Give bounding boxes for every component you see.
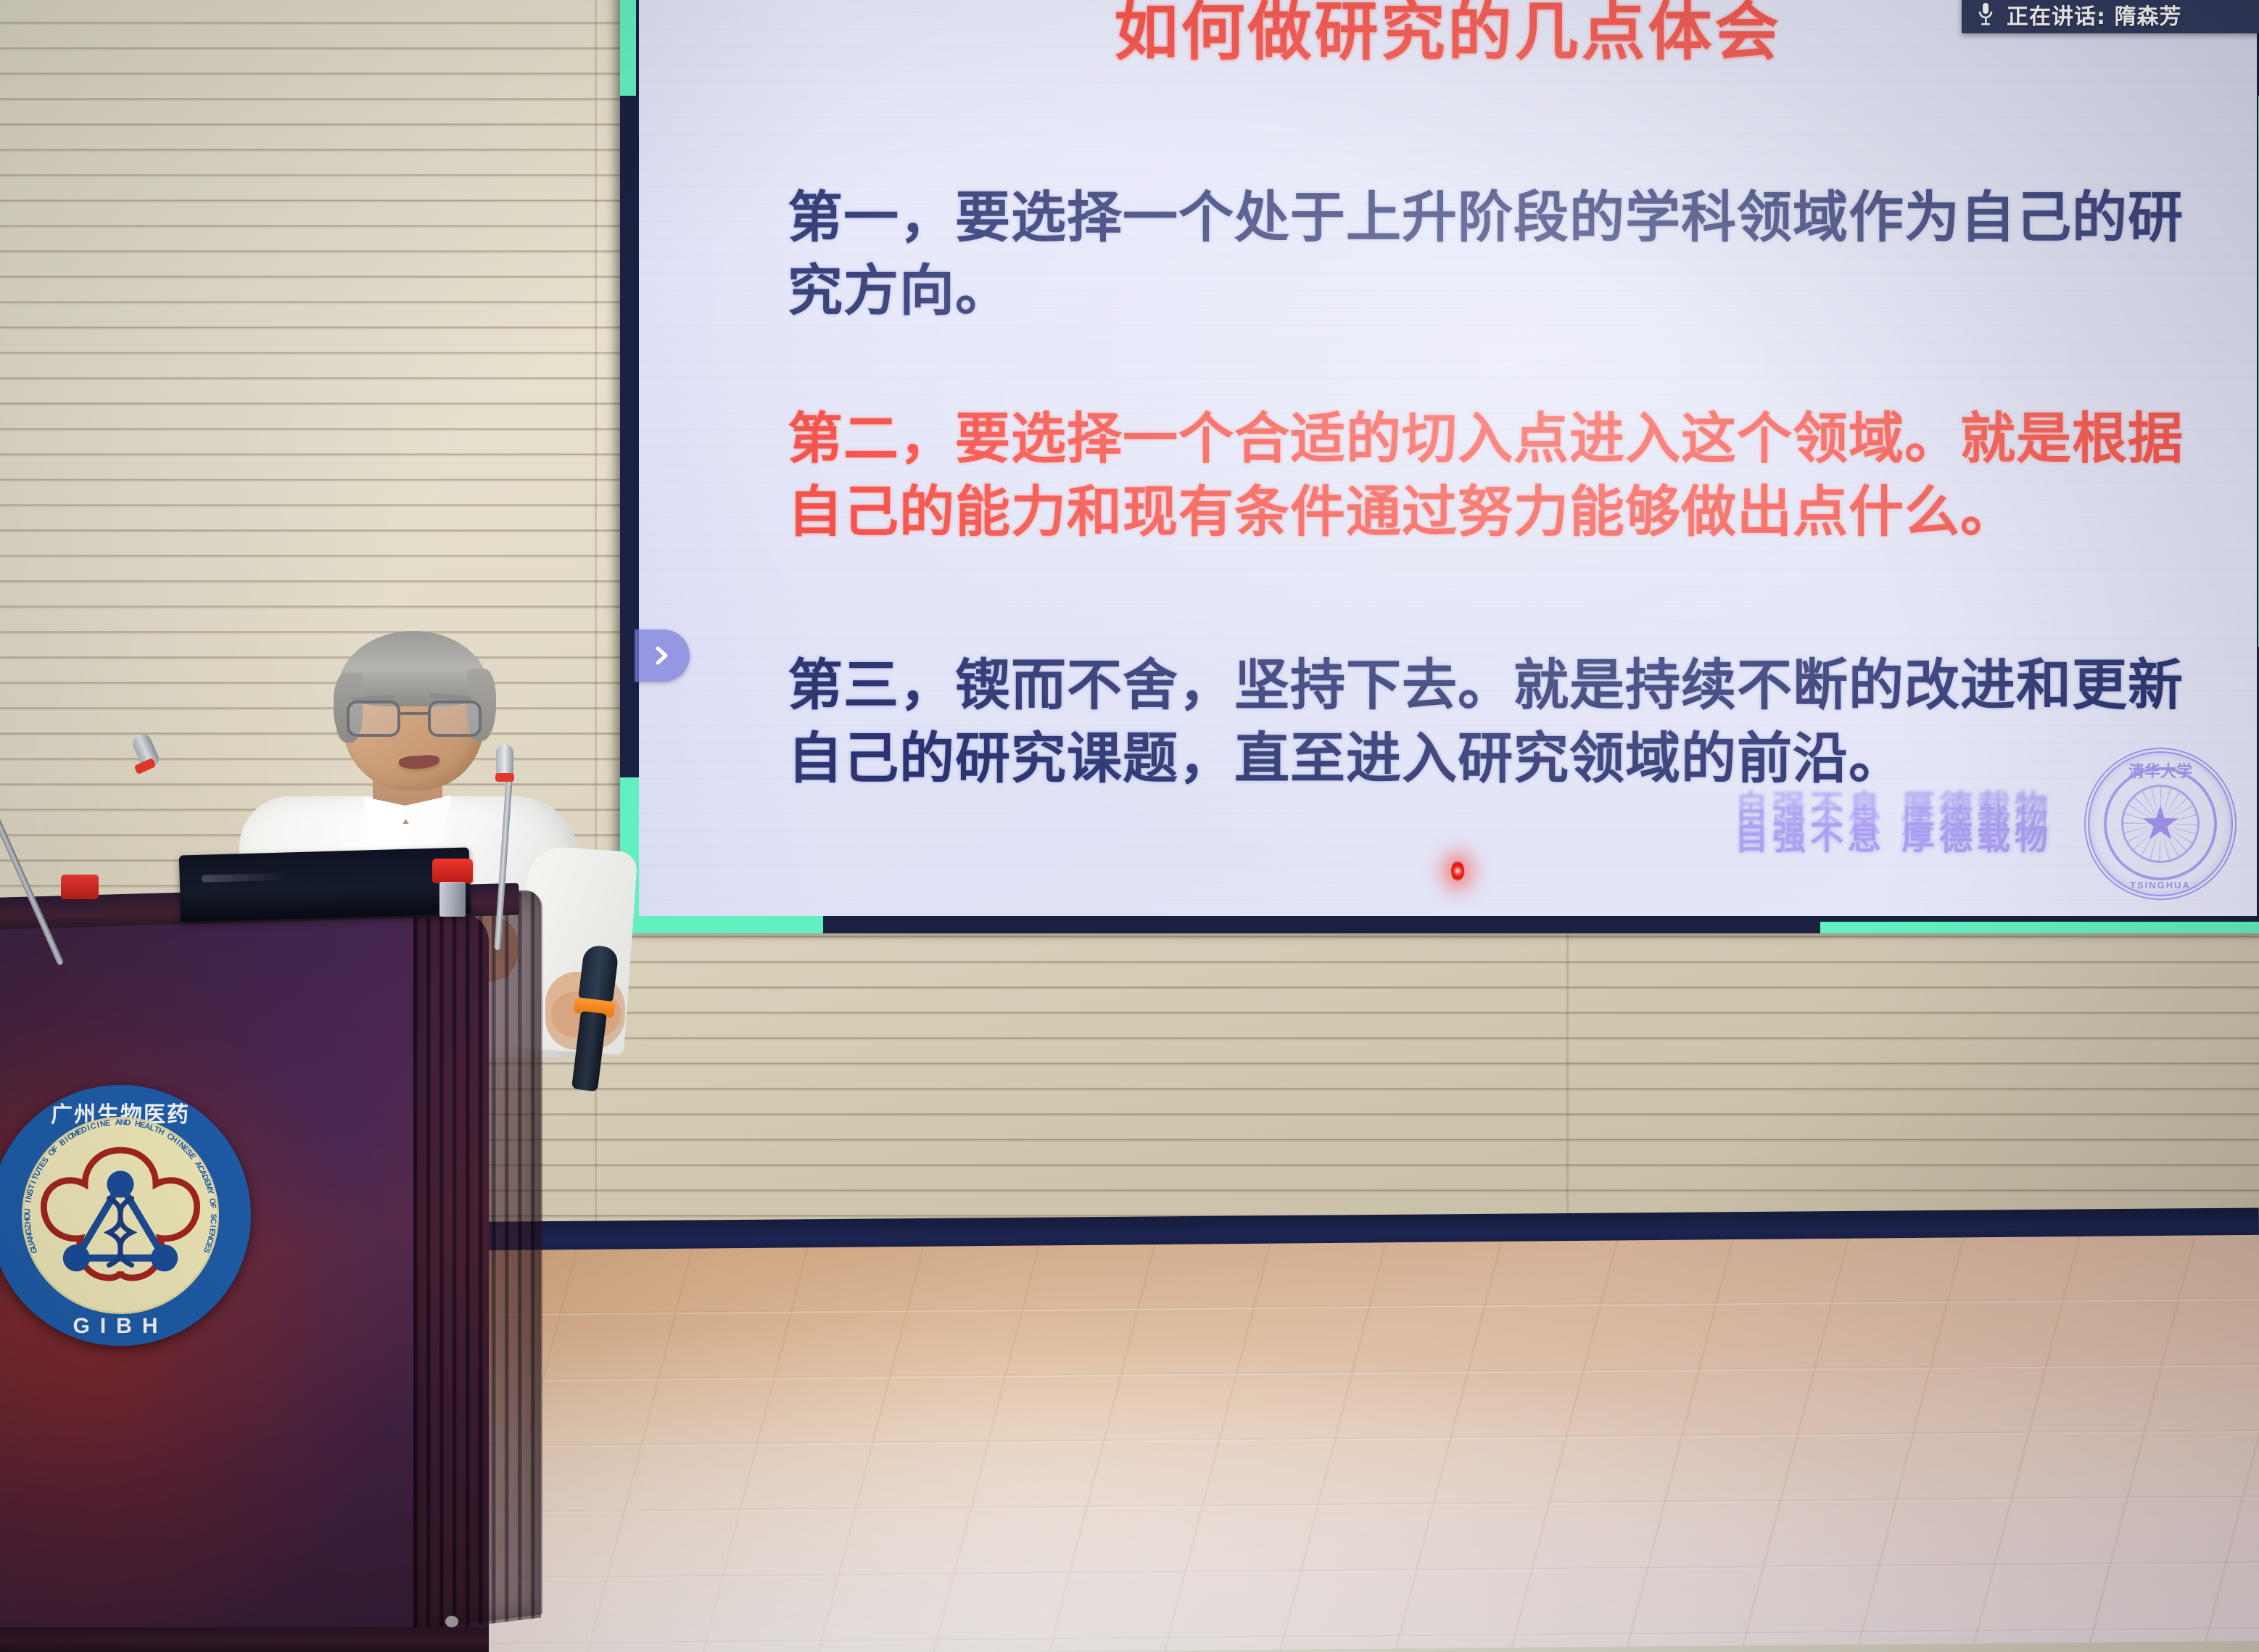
glasses-bridge: [400, 712, 429, 715]
chevron-right-icon[interactable]: [635, 629, 690, 682]
eyeglasses-icon: [347, 701, 482, 740]
seal-en-text: TSINGHUA: [2130, 880, 2191, 891]
speaking-status-overlay: 正在讲话: 隋森芳: [1962, 0, 2259, 33]
screen-edge-glow: [620, 916, 823, 933]
slide-paragraph-1: 第一，要选择一个处于上升阶段的学科领域作为自己的研究方向。: [788, 181, 2223, 327]
lens-right: [428, 701, 482, 737]
screen-glint: [202, 872, 289, 882]
podium-base: [0, 1627, 489, 1652]
bottle-cap: [432, 859, 473, 883]
mic-indicator-ring: [495, 773, 514, 782]
projection-screen[interactable]: 如何做研究的几点体会 第一，要选择一个处于上升阶段的学科领域作为自己的研究方向。…: [620, 0, 2259, 933]
lecture-photo-scene: 如何做研究的几点体会 第一，要选择一个处于上升阶段的学科领域作为自己的研究方向。…: [0, 0, 2259, 1652]
red-cap-object: [61, 875, 99, 899]
slide-paragraph-2: 第二，要选择一个合适的切入点进入这个领域。就是根据自己的能力和现有条件通过努力能…: [788, 402, 2223, 548]
microphone-icon: [1978, 2, 1994, 27]
gibh-logo-petal-emblem: [24, 1119, 217, 1312]
mic-head: [578, 944, 619, 1004]
speaking-label: 正在讲话: 隋森芳: [2007, 0, 2181, 30]
water-bottle: [432, 859, 473, 917]
gibh-logo-inner-disc: GUANGZHOU INSTITUTES OF BIOMEDICINE AND …: [22, 1117, 219, 1314]
mic-body: [571, 1011, 607, 1092]
podium-foot: [445, 1616, 458, 1627]
gibh-logo-abbr: GIBH: [0, 1314, 251, 1339]
podium: 广州生物医药 中国科学院 与健康研究院 GIBH GUANGZHOU INSTI…: [0, 891, 540, 1652]
podium-side-shade: [413, 889, 542, 1630]
slide-paragraph-3: 第三，锲而不舍，坚持下去。就是持续不断的改进和更新自己的研究课题，直至进入研究领…: [788, 648, 2223, 795]
laser-pointer-dot: [1451, 861, 1464, 881]
seal-cn-text: 清华大学: [2128, 759, 2192, 782]
slide-motto: 自强不息 厚德载物: [1735, 811, 2052, 859]
tsinghua-seal-logo: 清华大学 TSINGHUA: [2084, 748, 2237, 900]
screen-edge-glow: [1820, 922, 2259, 933]
gibh-institute-logo: 广州生物医药 中国科学院 与健康研究院 GIBH GUANGZHOU INSTI…: [0, 1085, 251, 1346]
podium-display[interactable]: [179, 847, 471, 922]
screen-edge-glow: [620, 0, 636, 96]
lens-left: [347, 701, 400, 737]
bottle-neck: [439, 882, 466, 917]
slide-surface: 如何做研究的几点体会 第一，要选择一个处于上升阶段的学科领域作为自己的研究方向。…: [639, 0, 2257, 916]
